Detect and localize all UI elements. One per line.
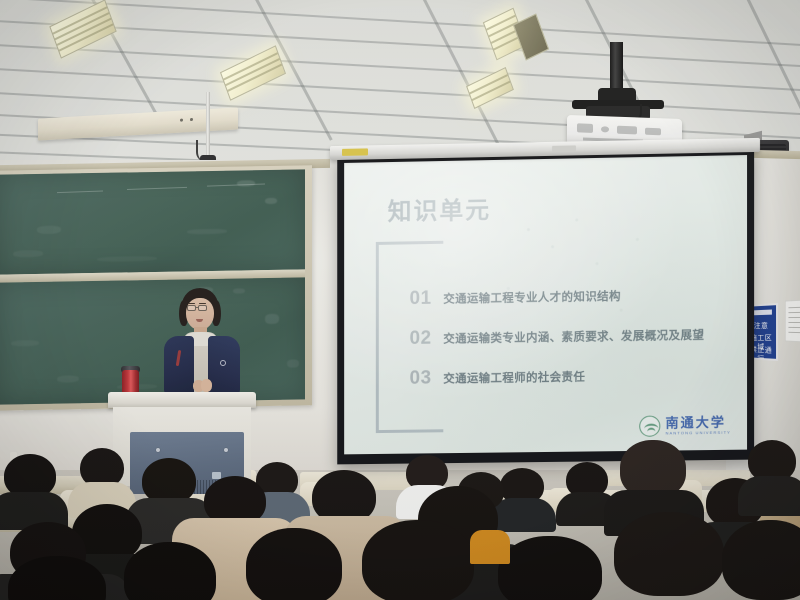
slide-item: 03 交通运输工程师的社会责任 xyxy=(410,354,740,399)
university-name-en: NANTONG UNIVERSITY xyxy=(666,431,731,436)
classroom-photo: 注意 施工区域 禁止通行 xyxy=(0,0,800,600)
slide-title: 知识单元 xyxy=(388,190,491,227)
glasses-icon xyxy=(198,305,207,311)
lecturer-hand xyxy=(201,379,212,392)
student xyxy=(742,440,800,510)
jacket-logo-icon xyxy=(220,360,226,366)
student xyxy=(470,530,510,564)
slide-surface: 知识单元 01 交通运输工程专业人才的知识结构 02 交通运输类专业内涵、素质要… xyxy=(344,155,747,454)
projection-screen: 知识单元 01 交通运输工程专业人才的知识结构 02 交通运输类专业内涵、素质要… xyxy=(337,148,754,465)
lecturer xyxy=(152,288,248,398)
student xyxy=(716,520,800,600)
housing-warning-label-icon xyxy=(342,148,368,155)
ceiling-light xyxy=(466,67,514,109)
student xyxy=(74,448,130,512)
slide-item-text: 交通运输类专业内涵、素质要求、发展概况及展望 xyxy=(443,327,704,347)
university-crest-icon xyxy=(639,416,660,437)
slide-item-number: 02 xyxy=(410,328,444,350)
podium-top xyxy=(108,392,256,408)
slide-item-text: 交通运输工程专业人才的知识结构 xyxy=(443,288,621,307)
slide-item-number: 03 xyxy=(410,367,444,389)
slide-item: 02 交通运输类专业内涵、素质要求、发展概况及展望 xyxy=(410,314,740,359)
student xyxy=(0,556,130,600)
ceiling-light xyxy=(220,45,286,101)
housing-brand-label xyxy=(552,145,576,151)
glasses-icon xyxy=(187,305,196,311)
slide-item: 01 交通运输工程专业人才的知识结构 xyxy=(410,274,740,319)
lecturer-jacket xyxy=(164,336,194,394)
student xyxy=(0,454,64,520)
university-name-cn: 南通大学 xyxy=(666,416,731,430)
wall-paper-notice xyxy=(785,299,800,342)
chalkboard-upper-panel xyxy=(0,169,305,274)
university-logo: 南通大学 NANTONG UNIVERSITY xyxy=(639,415,731,437)
student xyxy=(236,528,366,600)
projector-mast xyxy=(610,42,623,94)
slide-item-list: 01 交通运输工程专业人才的知识结构 02 交通运输类专业内涵、素质要求、发展概… xyxy=(410,274,740,399)
slide-item-text: 交通运输工程师的社会责任 xyxy=(443,368,585,386)
slide-item-number: 01 xyxy=(410,288,444,310)
microphone-pole xyxy=(206,92,210,158)
